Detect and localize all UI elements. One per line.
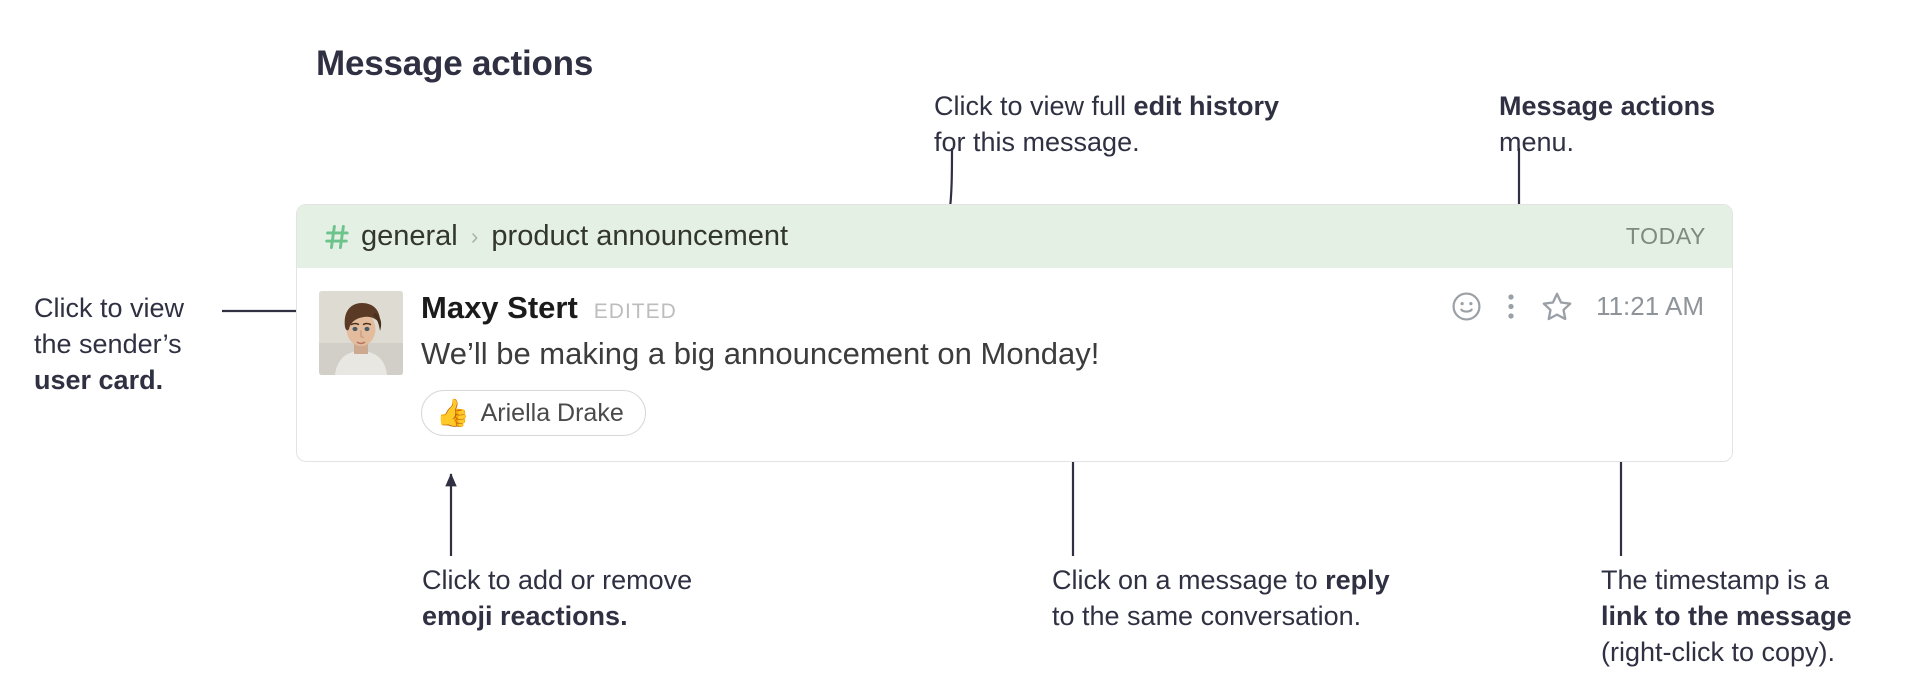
channel-header: general › product announcement TODAY (297, 205, 1732, 268)
callout-actions-menu-line1: Message actions (1499, 91, 1715, 121)
reaction-pill[interactable]: 👍 Ariella Drake (421, 390, 646, 436)
edited-badge[interactable]: EDITED (594, 300, 677, 324)
channel-name[interactable]: general (361, 220, 458, 253)
callout-emoji-line2: emoji reactions. (422, 601, 628, 631)
callout-timestamp-line3: (right-click to copy). (1601, 634, 1852, 670)
callout-emoji-reactions: Click to add or remove emoji reactions. (422, 562, 692, 634)
smiley-face-icon[interactable] (1451, 291, 1482, 322)
callout-user-card-line3: user card. (34, 365, 163, 395)
callout-user-card-line2: the sender’s (34, 326, 184, 362)
callout-edit-history-line1-bold: edit history (1134, 91, 1280, 121)
reaction-user-name: Ariella Drake (481, 399, 624, 428)
message-actions-cluster: 11:21 AM (1451, 290, 1704, 323)
callout-timestamp: The timestamp is a link to the message (… (1601, 562, 1852, 670)
hash-icon (324, 223, 351, 251)
avatar[interactable] (319, 291, 403, 375)
message-timestamp[interactable]: 11:21 AM (1596, 291, 1704, 322)
callout-timestamp-line1: The timestamp is a (1601, 562, 1852, 598)
callout-user-card-line1: Click to view (34, 290, 184, 326)
callout-emoji-line1: Click to add or remove (422, 562, 692, 598)
callout-edit-history: Click to view full edit history for this… (934, 88, 1279, 160)
message-row[interactable]: Maxy Stert EDITED We’ll be making a big … (297, 268, 1732, 461)
thumbs-up-emoji: 👍 (436, 400, 470, 427)
page-title: Message actions (316, 44, 593, 84)
callout-reply-line2: to the same conversation. (1052, 598, 1390, 634)
channel-topic[interactable]: product announcement (491, 220, 788, 253)
message-text[interactable]: We’ll be making a big announcement on Mo… (421, 336, 1099, 372)
three-dot-menu-icon[interactable] (1506, 291, 1516, 322)
callout-reply-line1-plain: Click on a message to (1052, 565, 1325, 595)
callout-edit-history-line1-plain: Click to view full (934, 91, 1134, 121)
callout-edit-history-line2: for this message. (934, 124, 1279, 160)
chevron-right-icon: › (471, 225, 479, 248)
callout-user-card: Click to view the sender’s user card. (34, 290, 184, 398)
callout-actions-menu-line2: menu. (1499, 124, 1715, 160)
star-outline-icon[interactable] (1540, 290, 1574, 323)
callout-actions-menu: Message actions menu. (1499, 88, 1715, 160)
message-card: general › product announcement TODAY (296, 204, 1733, 462)
callout-reply-line1-bold: reply (1325, 565, 1390, 595)
date-label: TODAY (1626, 223, 1706, 250)
callout-reply: Click on a message to reply to the same … (1052, 562, 1390, 634)
sender-name[interactable]: Maxy Stert (421, 290, 578, 326)
sender-row: Maxy Stert EDITED (421, 290, 677, 326)
callout-timestamp-line2: link to the message (1601, 601, 1852, 631)
